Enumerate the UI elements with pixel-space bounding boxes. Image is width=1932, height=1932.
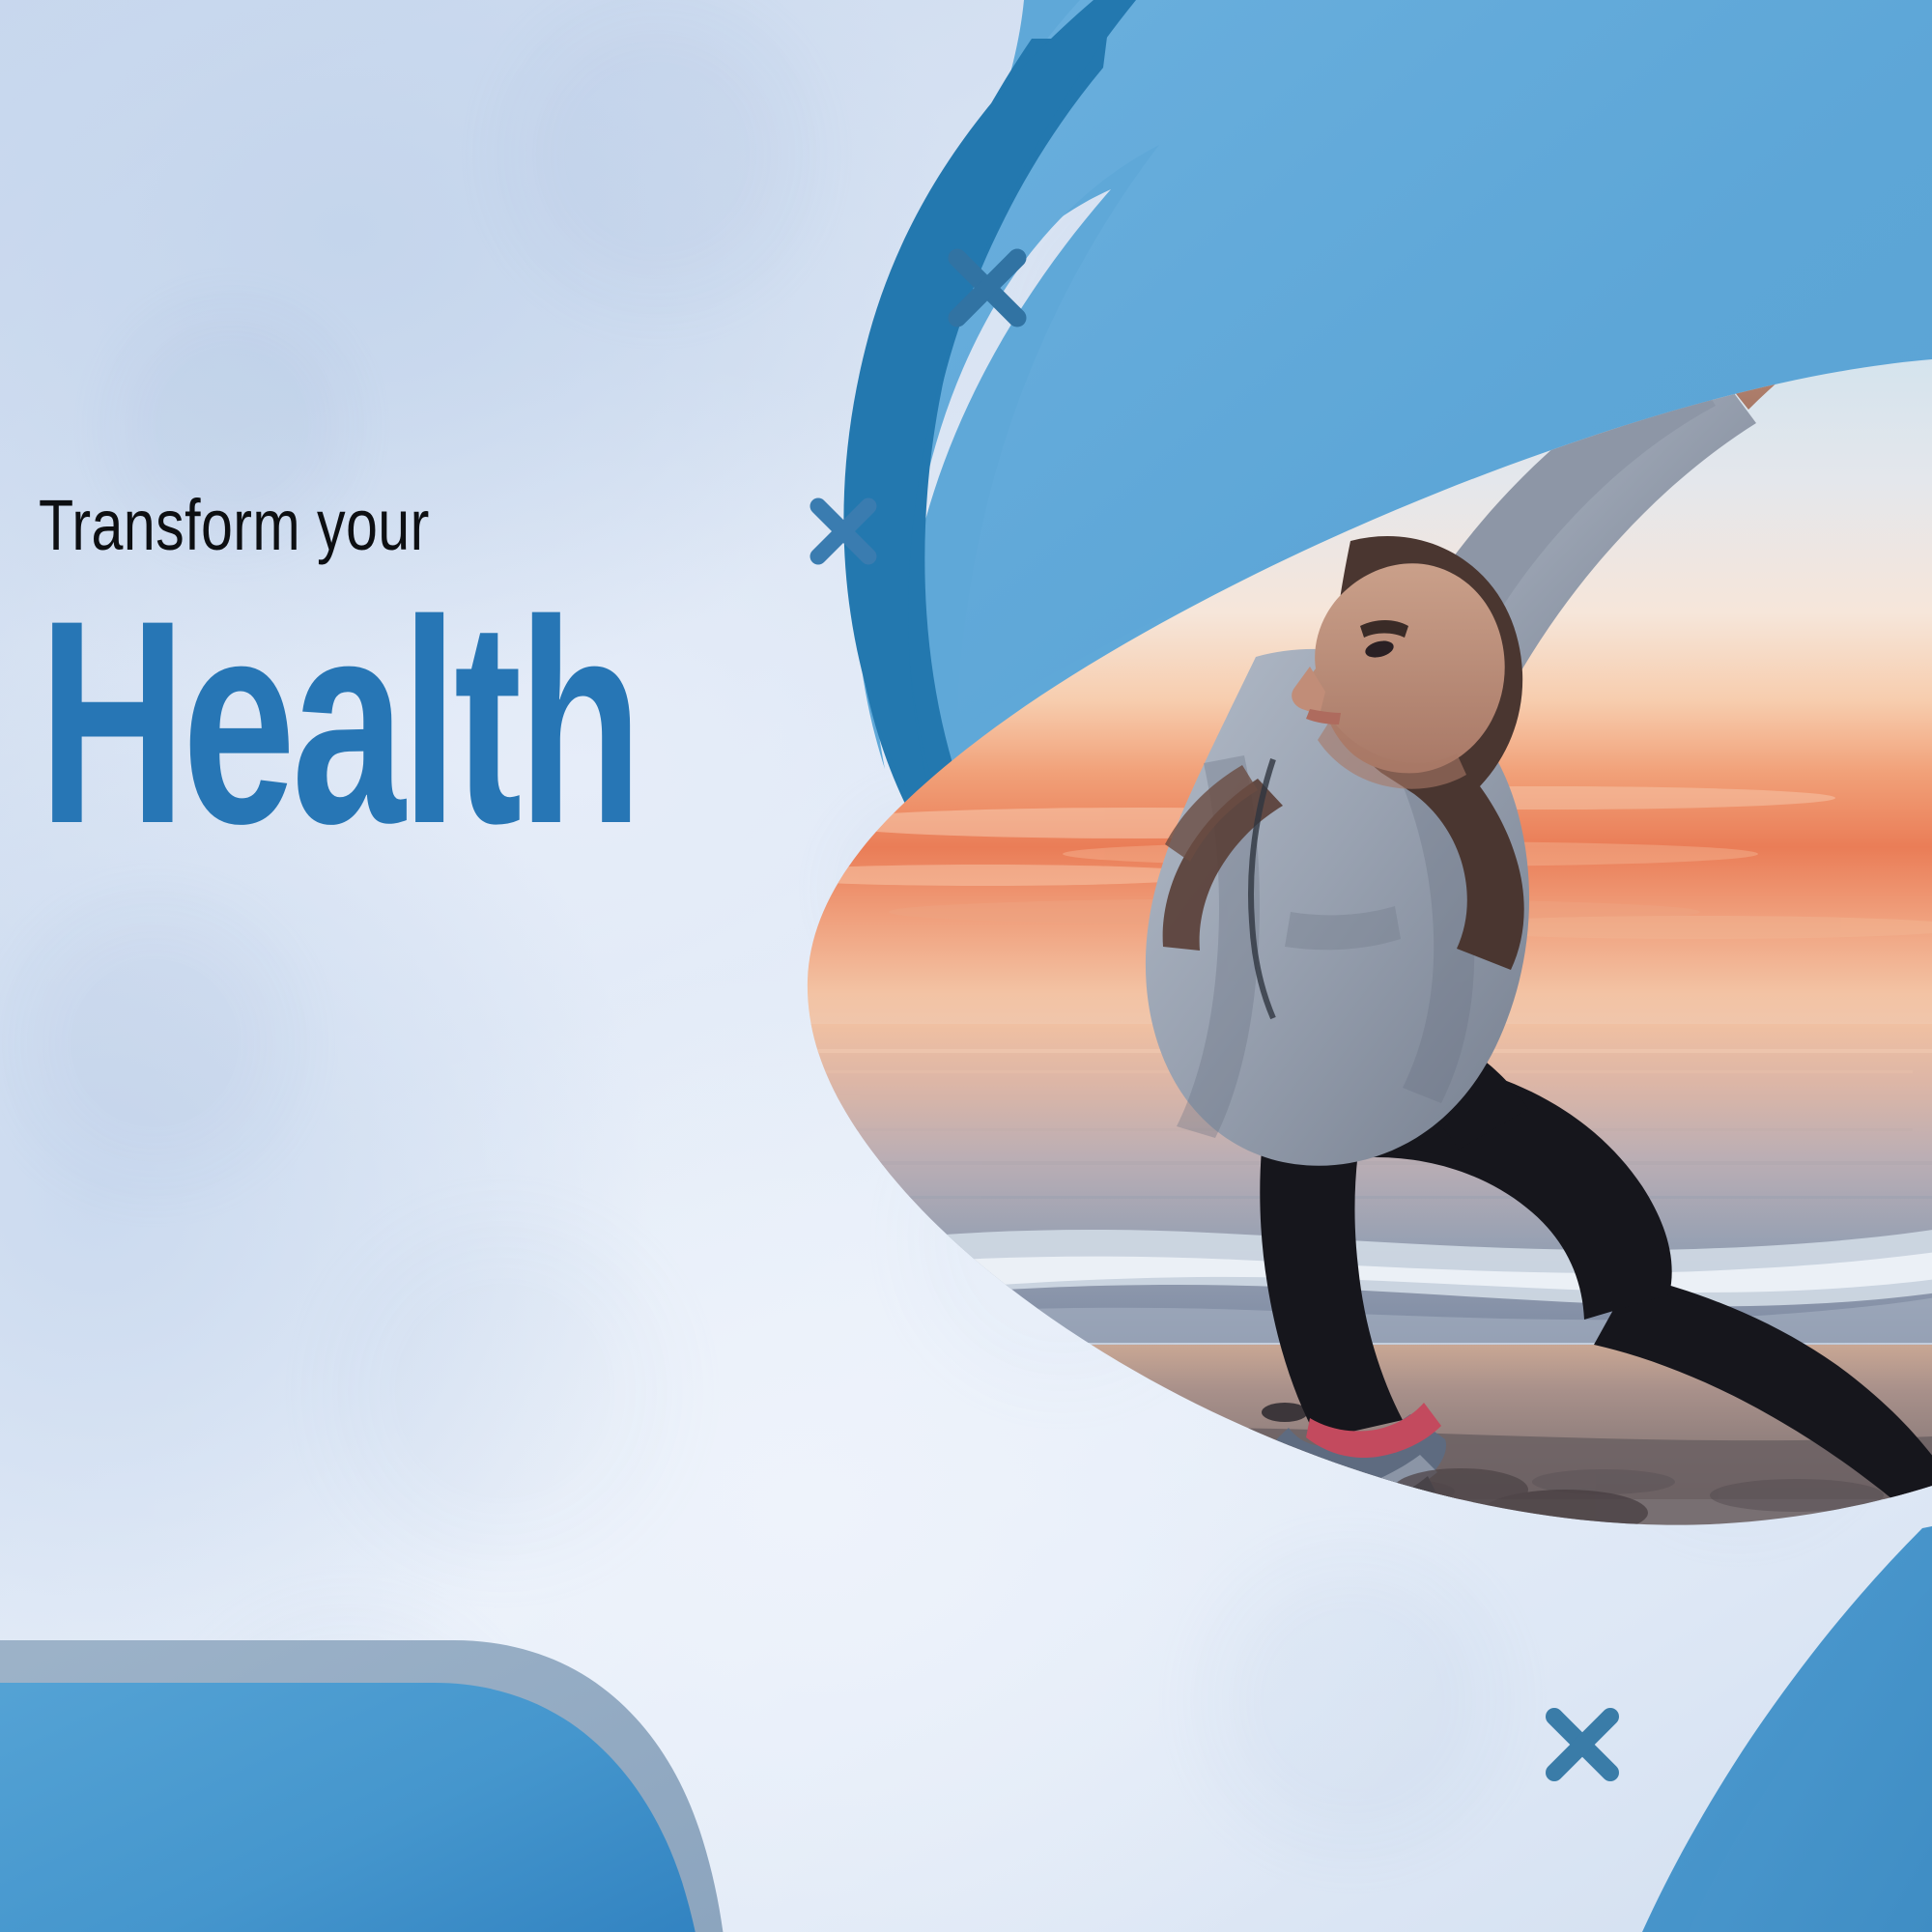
x-mark-middle-icon <box>818 506 868 556</box>
x-mark-top-icon <box>957 258 1017 318</box>
x-mark-bottom-icon <box>1554 1717 1610 1773</box>
poster-canvas: Transform your Health <box>0 0 1932 1932</box>
decor-x-marks <box>0 0 1932 1932</box>
